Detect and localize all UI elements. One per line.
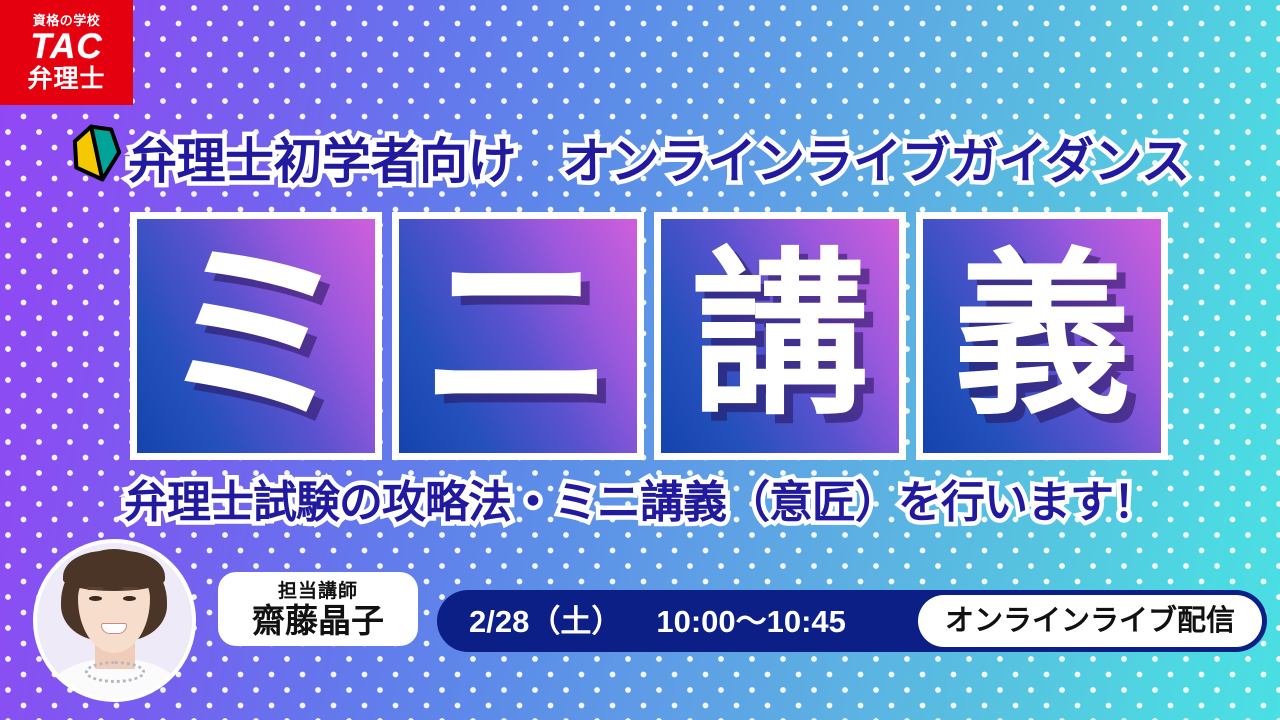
portrait-mouth <box>101 623 127 634</box>
portrait-fringe <box>63 551 165 591</box>
portrait-brow-left <box>87 587 103 590</box>
title-box-2: ニ <box>392 212 644 460</box>
headline-event-type: オンラインライブガイダンス <box>562 138 1190 187</box>
poster-stage: 資格の学校 TAC 弁理士 弁理士初学者向け オンラインライブガイダンス ミ ニ… <box>0 0 1280 720</box>
title-box-1-inner: ミ <box>137 219 375 453</box>
title-box-3-char: 講 <box>661 219 899 453</box>
tac-logo: 資格の学校 TAC 弁理士 <box>0 0 133 105</box>
portrait-brow-right <box>122 587 138 590</box>
subtitle: 弁理士試験の攻略法・ミニ講義（意匠）を行います！ <box>0 472 1280 534</box>
instructor-avatar <box>33 539 196 702</box>
headline-audience: 弁理士初学者向け <box>128 138 516 187</box>
beginner-leaf-mark-icon <box>60 117 134 191</box>
instructor-badge: 担当講師 齋藤晶子 <box>218 572 418 646</box>
portrait-eye-right <box>123 596 136 601</box>
title-box-1: ミ <box>130 212 382 460</box>
portrait-eye-left <box>89 596 102 601</box>
delivery-format-badge: オンラインライブ配信 <box>918 595 1262 647</box>
schedule-date: 2/28（土） <box>469 606 622 637</box>
title-box-3: 講 <box>654 212 906 460</box>
tac-logo-wordmark: TAC <box>30 29 102 64</box>
title-box-group: ミ ニ 講 義 <box>130 212 1170 460</box>
instructor-portrait-illustration <box>37 543 192 698</box>
schedule-bar: 2/28（土） 10:00〜10:45 オンラインライブ配信 <box>437 590 1267 652</box>
title-box-2-char: ニ <box>399 219 637 453</box>
title-box-3-inner: 講 <box>661 219 899 453</box>
title-box-4: 義 <box>916 212 1168 460</box>
title-box-1-char: ミ <box>137 219 375 453</box>
title-box-4-inner: 義 <box>923 219 1161 453</box>
tac-logo-subject: 弁理士 <box>27 67 105 92</box>
headline-text-group: 弁理士初学者向け オンラインライブガイダンス <box>128 126 1268 198</box>
instructor-name: 齋藤晶子 <box>252 604 384 637</box>
tac-logo-tagline: 資格の学校 <box>33 14 101 27</box>
instructor-role-label: 担当講師 <box>278 582 358 601</box>
title-box-4-char: 義 <box>923 219 1161 453</box>
schedule-time: 10:00〜10:45 <box>656 606 846 637</box>
portrait-collar <box>85 661 145 683</box>
headline-row: 弁理士初学者向け オンラインライブガイダンス <box>0 126 1280 198</box>
title-box-2-inner: ニ <box>399 219 637 453</box>
